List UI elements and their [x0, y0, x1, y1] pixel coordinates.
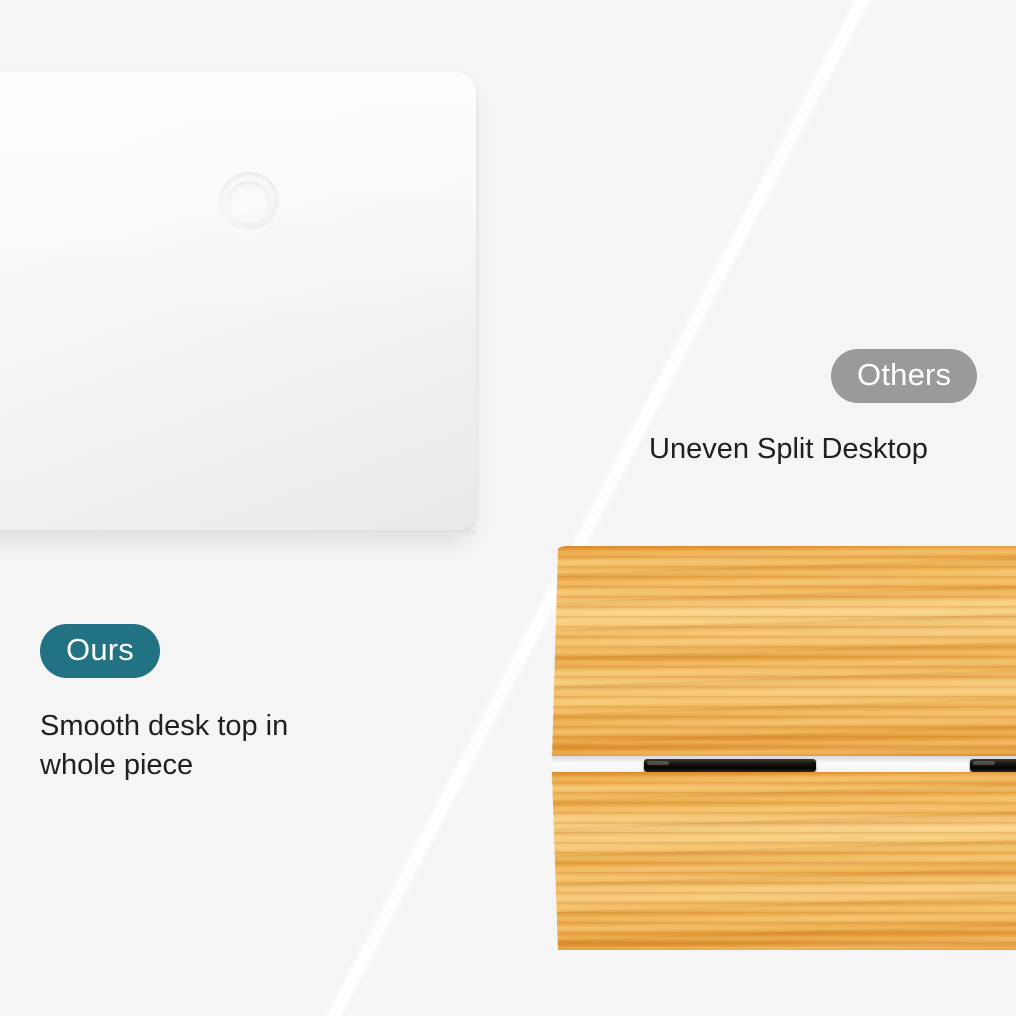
- ours-caption: Smooth desk top in whole piece: [40, 707, 420, 785]
- others-caption: Uneven Split Desktop: [649, 430, 1016, 469]
- cable-grommet-icon: [219, 172, 279, 232]
- ours-badge: Ours: [40, 624, 160, 678]
- wood-slab-upper: [552, 546, 1016, 758]
- comparison-graphic: Others Uneven Split Desktop Ours Smooth …: [0, 0, 1016, 1016]
- wooden-desktop-panel: [552, 546, 1016, 950]
- others-badge: Others: [831, 349, 977, 403]
- cable-grommet-inner: [228, 181, 270, 223]
- white-desktop-edge: [0, 530, 476, 535]
- hinge-bar-left: [644, 759, 816, 772]
- hinge-bar-right: [970, 759, 1016, 772]
- white-desktop-panel: [0, 72, 476, 531]
- wood-slab-lower: [552, 772, 1016, 950]
